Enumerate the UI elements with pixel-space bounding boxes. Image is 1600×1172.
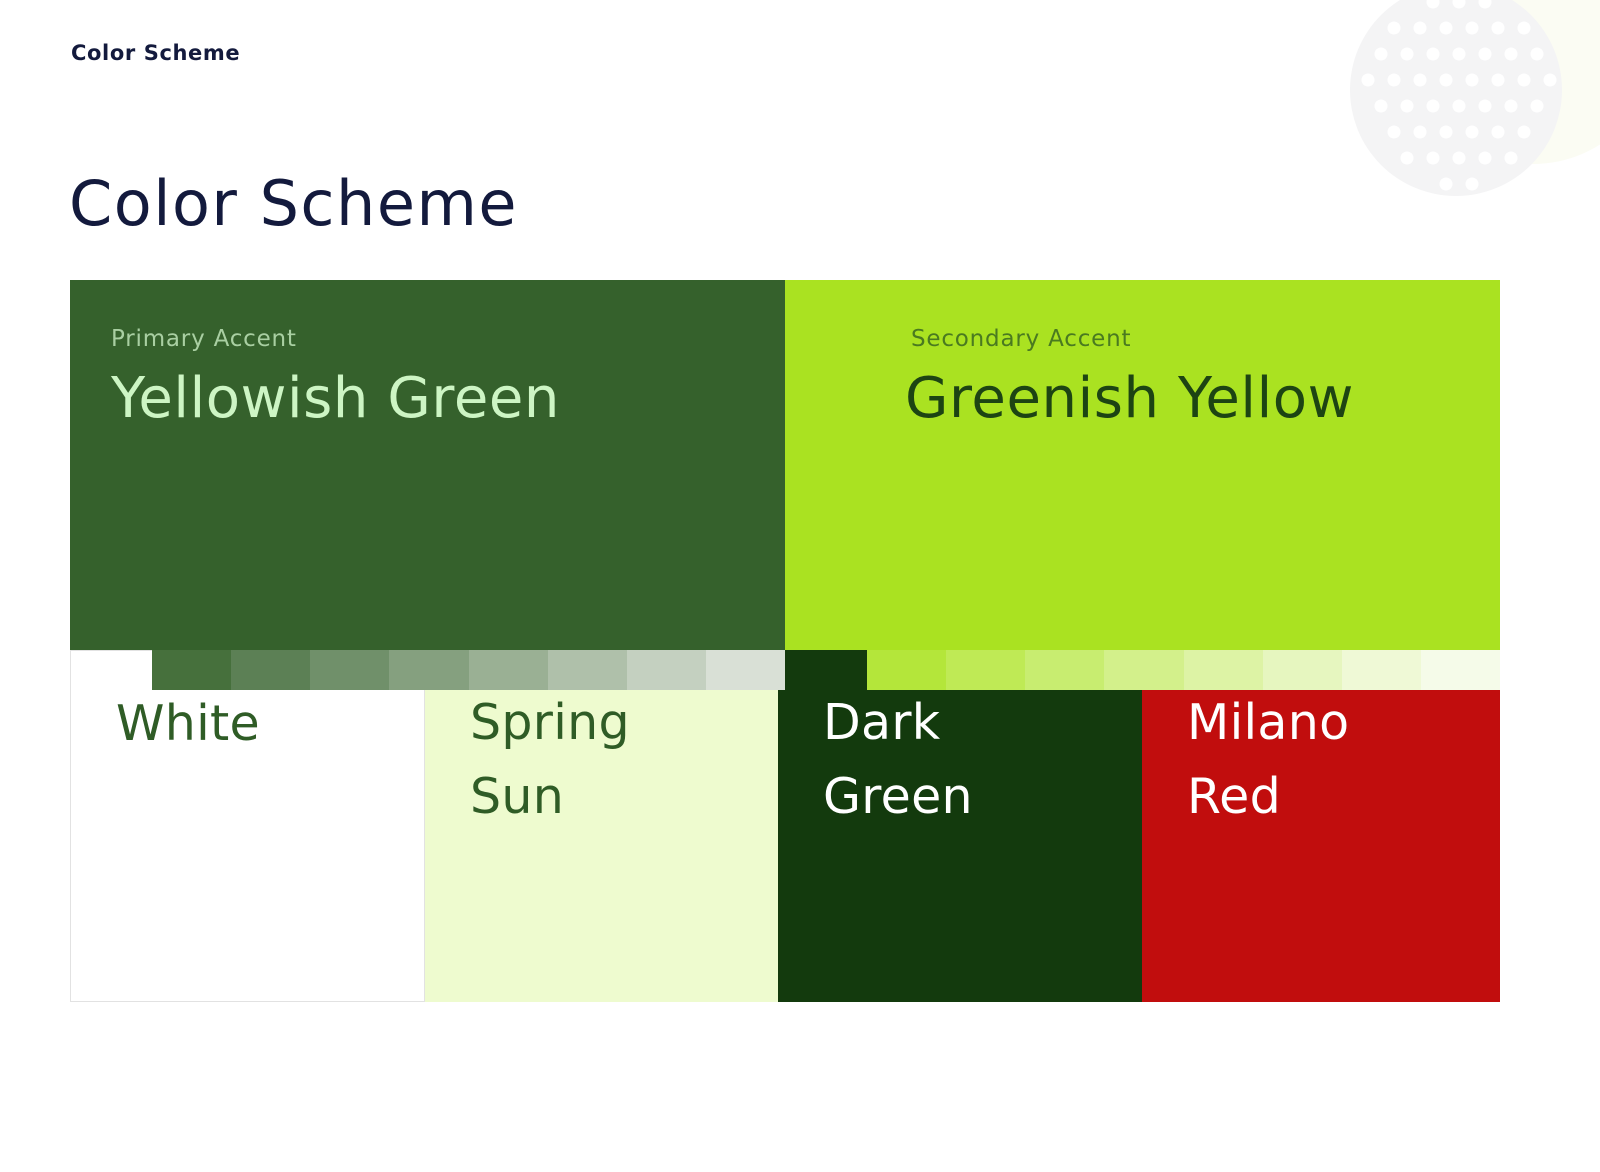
- dot-pattern-svg: [1350, 0, 1562, 196]
- color-swatch-label-milano-red: Milano Red: [1187, 686, 1447, 835]
- page-title: Color Scheme: [69, 167, 518, 240]
- color-swatch-milano-red[interactable]: Milano Red: [1142, 650, 1500, 1002]
- tint-cell-secondary-7: [1342, 650, 1421, 690]
- decorative-arc: [1408, 0, 1600, 164]
- color-swatch-spring-sun[interactable]: Spring Sun: [425, 650, 778, 1002]
- accent-row: Primary Accent Yellowish Green Secondary…: [70, 280, 1500, 650]
- tint-cell-primary-6: [548, 650, 627, 690]
- tint-cell-secondary-2: [946, 650, 1025, 690]
- color-palette-panel: Primary Accent Yellowish Green Secondary…: [70, 280, 1500, 1002]
- tint-cell-secondary-1: [867, 650, 946, 690]
- tint-cell-primary-3: [310, 650, 389, 690]
- tint-cell-primary-2: [231, 650, 310, 690]
- accent-label-secondary: Secondary Accent: [911, 326, 1131, 352]
- tint-cell-secondary-3: [1025, 650, 1104, 690]
- decorative-dot-pattern: [1350, 0, 1562, 196]
- color-swatch-label-white: White: [116, 687, 260, 761]
- accent-name-primary: Yellowish Green: [111, 366, 560, 431]
- tint-cell-primary-7: [627, 650, 706, 690]
- decorative-circle: [1350, 0, 1562, 196]
- tint-ramp-primary: [152, 650, 785, 690]
- tint-cell-primary-4: [389, 650, 468, 690]
- tint-cell-primary-8: [706, 650, 785, 690]
- tint-cell-secondary-6: [1263, 650, 1342, 690]
- tint-cell-primary-1: [152, 650, 231, 690]
- tint-ramp-secondary: [867, 650, 1500, 690]
- color-swatch-label-dark-green: Dark Green: [823, 686, 1083, 835]
- accent-swatch-primary[interactable]: Primary Accent Yellowish Green: [70, 280, 785, 650]
- swatch-row: White Spring Sun Dark Green Milano Red: [70, 650, 1500, 1002]
- tint-cell-secondary-8: [1421, 650, 1500, 690]
- tint-cell-secondary-5: [1184, 650, 1263, 690]
- accent-swatch-secondary[interactable]: Secondary Accent Greenish Yellow: [785, 280, 1500, 650]
- color-swatch-label-spring-sun: Spring Sun: [470, 686, 730, 835]
- tint-cell-secondary-4: [1104, 650, 1183, 690]
- accent-name-secondary: Greenish Yellow: [905, 366, 1354, 431]
- accent-label-primary: Primary Accent: [111, 326, 297, 352]
- color-swatch-dark-green[interactable]: Dark Green: [778, 650, 1142, 1002]
- decorative-ornament: [1300, 0, 1600, 250]
- tint-cell-primary-5: [469, 650, 548, 690]
- color-swatch-white[interactable]: White: [70, 650, 425, 1002]
- eyebrow-label: Color Scheme: [71, 41, 240, 65]
